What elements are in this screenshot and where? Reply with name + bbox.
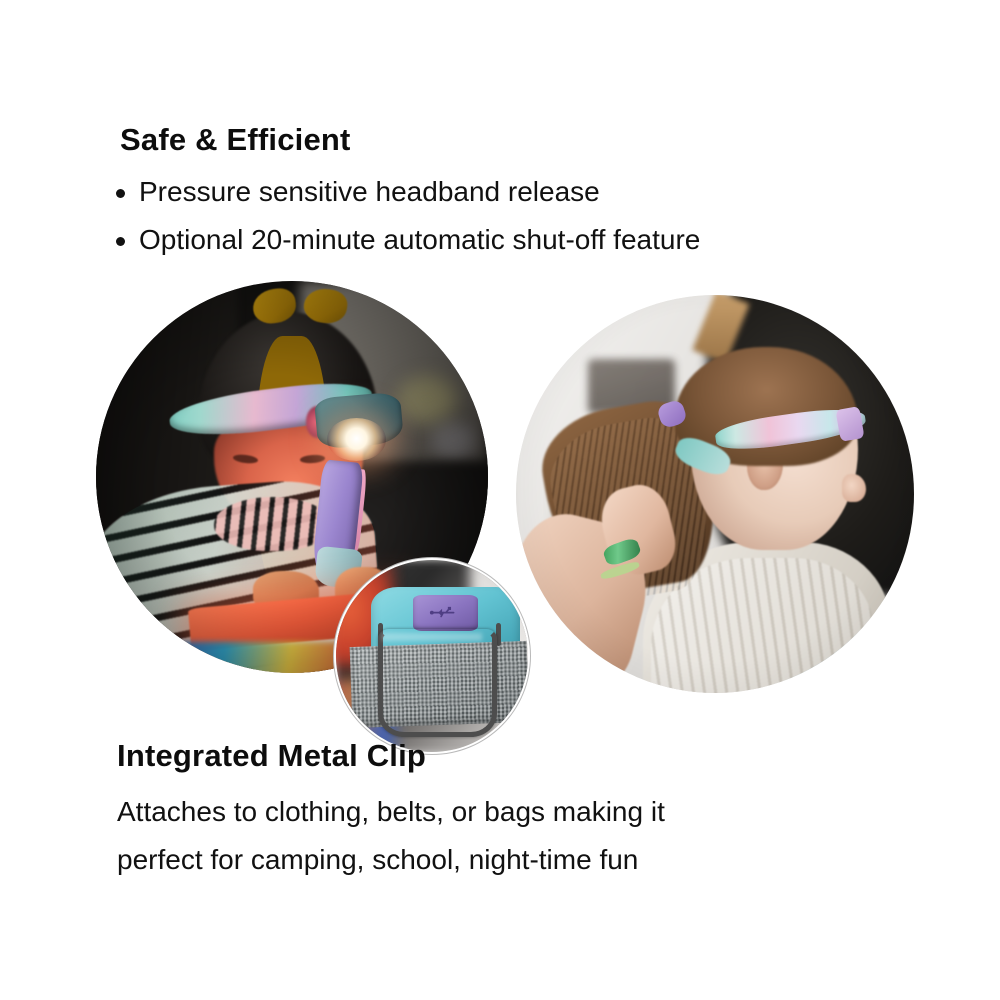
list-item: Optional 20-minute automatic shut-off fe…	[116, 216, 700, 264]
inset-photo-scene	[336, 560, 528, 752]
right-photo-scene	[516, 295, 914, 693]
body-line: perfect for camping, school, night-time …	[117, 836, 837, 884]
top-feature-heading: Safe & Efficient	[120, 122, 351, 158]
right-photo-vignette	[516, 295, 914, 693]
bullet-text: Optional 20-minute automatic shut-off fe…	[139, 216, 700, 264]
photo-inset-metal-clip-detail	[336, 560, 528, 752]
bullet-text: Pressure sensitive headband release	[139, 168, 600, 216]
bottom-feature-heading: Integrated Metal Clip	[117, 738, 426, 774]
photo-girl-fitting-headband	[516, 295, 914, 693]
body-line: Attaches to clothing, belts, or bags mak…	[117, 788, 837, 836]
product-feature-panel: Safe & Efficient Pressure sensitive head…	[0, 0, 1000, 1000]
list-item: Pressure sensitive headband release	[116, 168, 700, 216]
top-feature-bullet-list: Pressure sensitive headband release Opti…	[116, 168, 700, 264]
bullet-dot-icon	[116, 189, 125, 198]
bottom-feature-body: Attaches to clothing, belts, or bags mak…	[117, 788, 837, 884]
bullet-dot-icon	[116, 237, 125, 246]
inset-vignette	[336, 560, 528, 752]
